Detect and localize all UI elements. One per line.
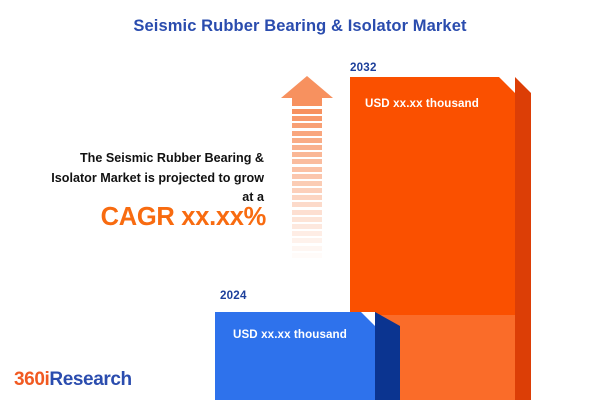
arrow-segment (292, 116, 322, 121)
arrow-segment (292, 181, 322, 186)
growth-statement: The Seismic Rubber Bearing & Isolator Ma… (10, 149, 264, 208)
brand-logo-research: Research (49, 369, 131, 390)
growth-statement-line-1: The Seismic Rubber Bearing & (10, 149, 264, 169)
arrow-segment (292, 138, 322, 143)
arrow-segment (292, 123, 322, 128)
arrow-segment (292, 195, 322, 200)
arrow-segment (292, 231, 322, 236)
bar-2024-front-face (215, 312, 375, 400)
year-label-2024: 2024 (220, 289, 247, 302)
bar-2024[interactable] (215, 312, 375, 400)
arrow-head-icon (281, 76, 333, 106)
bar-2032-side-face (515, 77, 531, 400)
arrow-segment (292, 109, 322, 114)
arrow-segment (292, 210, 322, 215)
cagr-value: CAGR xx.xx% (10, 203, 266, 232)
growth-arrow-icon (281, 76, 333, 288)
bar-2024-value-label: USD xx.xx thousand (233, 328, 347, 341)
infographic-canvas: Seismic Rubber Bearing & Isolator Market… (0, 0, 600, 400)
growth-statement-line-2: Isolator Market is projected to grow (10, 169, 264, 189)
brand-logo[interactable]: 360iResearch (14, 369, 132, 391)
arrow-segment (292, 145, 322, 150)
arrow-segment (292, 174, 322, 179)
brand-logo-360: 360 (14, 369, 45, 390)
arrow-segment (292, 159, 322, 164)
page-title: Seismic Rubber Bearing & Isolator Market (0, 17, 600, 36)
arrow-neck-shape (292, 97, 322, 106)
arrow-segment (292, 224, 322, 229)
bar-2032-value-label: USD xx.xx thousand (365, 97, 479, 110)
arrow-segment (292, 217, 322, 222)
bar-2024-side-face (375, 312, 400, 400)
arrow-segment (292, 238, 322, 243)
arrow-segment (292, 260, 322, 265)
arrow-segment (292, 202, 322, 207)
arrow-segment (292, 131, 322, 136)
arrow-tip-shape (281, 76, 333, 98)
arrow-segment (292, 246, 322, 251)
arrow-segment (292, 188, 322, 193)
arrow-segment (292, 167, 322, 172)
arrow-segment (292, 152, 322, 157)
arrow-segment (292, 253, 322, 258)
arrow-segment-stack (292, 109, 322, 288)
year-label-2032: 2032 (350, 61, 377, 74)
